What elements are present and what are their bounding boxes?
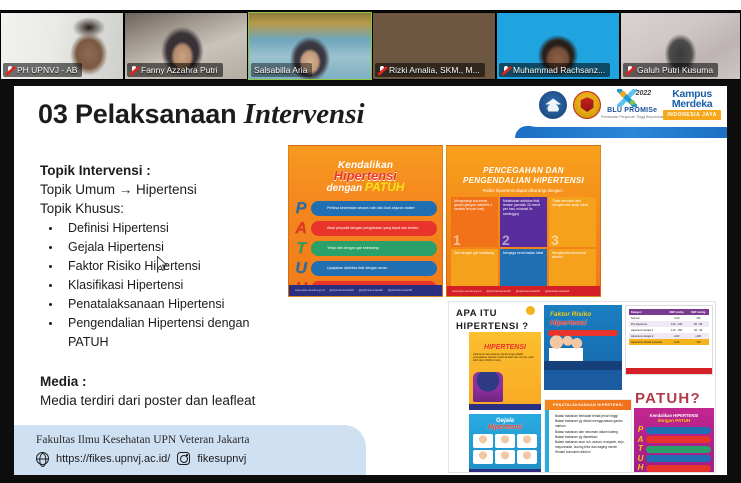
symptom-icon-1 (473, 434, 493, 448)
footer-website-url[interactable]: https://fikes.upnvj.ac.id/ (56, 453, 170, 465)
leaflet-patuh-letter: H (637, 464, 644, 472)
participant-name-text-3: Salsabilla Aria (254, 64, 307, 76)
poster-patuh-handle-0: www.p2ptm.kemkes.go.id (295, 289, 324, 292)
participant-name-label-2: Fanny Azzahra Putri (127, 63, 223, 77)
zoom-meeting-window: PH UPNVJ - AB Fanny Azzahra Putri Salsab… (0, 0, 741, 483)
tip-number: 2 (502, 233, 510, 247)
poster-prevention-handle-1: @p2ptmkemenkesRI (486, 290, 510, 293)
table-cell: Normal (629, 317, 666, 320)
blu-promise-logo-icon: 2022 BLU PROMISe Pendanaan Perguruan Tin… (607, 89, 657, 120)
leaflet-gejala-icon-grid (473, 434, 537, 464)
leaflet-penatalaksanaan-header: PENATALAKSANAAN HIPERTENSI (545, 400, 631, 410)
tip-text: Diet dengan gizi seimbang (454, 251, 494, 255)
leaflet-patuh-letter: P (637, 426, 644, 434)
leaflet-patuh-row-u: U (637, 455, 711, 463)
leaflet-panel-kendalikan-patuh: Kendalikan HIPERTENSI dengan PATUH P A T… (634, 408, 714, 473)
globe-icon (36, 452, 49, 465)
poster-patuh-handle-2: @p2ptmkemenkesRI (359, 289, 383, 292)
participant-name-text-1: PH UPNVJ - AB (17, 64, 77, 76)
symptom-icon-4 (473, 450, 493, 464)
symptom-icon-2 (495, 434, 515, 448)
slide-title-plain: Pelaksanaan (75, 99, 236, 129)
footer-links: https://fikes.upnvj.ac.id/ fikesupnvj (36, 452, 366, 465)
leaflet-penatalaksanaan-list: Batasi makanan berkadar lemak jenuh ting… (555, 414, 628, 456)
leaflet-hipertensi-title: HIPERTENSI (469, 344, 541, 351)
top-white-strip (0, 0, 741, 11)
poster-patuh-line3a: dengan (327, 183, 363, 194)
poster-patuh-line3: dengan PATUH (289, 182, 442, 194)
table-row: Hipertensi sistolik terisolasi ≥140 <90 (629, 339, 709, 345)
leaflet-gejala-title2: Hipertensi (469, 424, 541, 431)
poster-prevention-tip-1: Mengurangi konsumsi garam (jangan melebi… (451, 197, 498, 247)
poster-prevention-tip-grid: Mengurangi konsumsi garam (jangan melebi… (451, 197, 596, 297)
footer-instagram-handle[interactable]: fikesupnvj (197, 453, 246, 465)
slide-title-italic: Intervensi (244, 98, 365, 130)
table-cell: ≥160 (666, 335, 688, 338)
tut-wuri-handayani-logo-icon (539, 91, 567, 119)
poster-patuh-line3b: PATUH (365, 180, 405, 194)
topik-khusus-list: Definisi Hipertensi Gejala Hipertensi Fa… (62, 219, 290, 352)
leaflet-collage: APA ITU HIPERTENSI ? HIPERTENSI Hiperten… (448, 301, 716, 473)
poster-patuh-rows: P Periksa kesehatan secara rutin dan iku… (294, 200, 437, 297)
slide-title-number: 03 (38, 99, 68, 129)
participant-name-label-4: Rizki Amalia, SKM., M... (375, 63, 485, 77)
video-tile-ph-upnvj-ab[interactable]: PH UPNVJ - AB (0, 12, 124, 80)
tip-number: 1 (453, 233, 461, 247)
poster-patuh-text-t: Tetap diet dengan gizi seimbang (311, 241, 437, 256)
poster-prevention-footer-bar: www.p2ptm.kemkes.go.id @p2ptmkemenkesRI … (447, 286, 600, 296)
poster-patuh-handle-1: @p2ptmkemenkesRI (329, 289, 353, 292)
poster-prevention-title-line2: PENGENDALIAN HIPERTENSI (455, 176, 592, 186)
participant-filmstrip: PH UPNVJ - AB Fanny Azzahra Putri Salsab… (0, 12, 741, 80)
leaflet-penatalaksanaan-edge (545, 410, 549, 473)
microphone-muted-icon (130, 65, 138, 76)
leaflet-hipertensi-footer-bar (469, 404, 541, 410)
participant-name-label-5: Muhammad Rachsanz... (499, 63, 610, 77)
poster-prevention-handle-2: @p2ptmkemenkesRI (516, 290, 540, 293)
leaflet-faktor-title2: Hipertensi (550, 318, 622, 327)
topik-umum-line: Topik Umum → Hipertensi (40, 180, 290, 199)
slide-title: 03 Pelaksanaan Intervensi (38, 98, 365, 131)
poster-patuh-heading: Kendalikan Hipertensi dengan PATUH (289, 160, 442, 194)
media-heading: Media : (40, 372, 290, 391)
leaflet-gejala-footer-bar (469, 469, 541, 473)
video-tile-rizki-amalia[interactable]: Rizki Amalia, SKM., M... (372, 12, 496, 80)
slide-body-text: Topik Intervensi : Topik Umum → Hiperten… (40, 161, 290, 410)
poster-patuh-letter-t: T (294, 241, 308, 257)
slide-logo-row: 2022 BLU PROMISe Pendanaan Perguruan Tin… (539, 89, 721, 120)
table-cell: Pre-hipertensi (629, 323, 666, 326)
video-tile-salsabilla-aria[interactable]: Salsabilla Aria (248, 12, 372, 80)
poster-patuh-row-p: P Periksa kesehatan secara rutin dan iku… (294, 200, 437, 217)
poster-patuh-letter-a: A (294, 221, 308, 237)
leaflet-patuh-letter: T (637, 445, 644, 453)
tip-text: Melakukan aktivitas fisik teratur (aerob… (503, 199, 540, 216)
leaflet-faktor-title1: Faktor Risiko (550, 311, 622, 318)
table-cell: Hipertensi derajat 1 (629, 329, 666, 332)
poster-prevention-tip-3: Tidak merokok dan menghindari asap rokok… (549, 197, 596, 247)
leaflet-panel-klasifikasi-table: Kategori SBP mmHg DBP mmHg Normal <120 <… (625, 305, 713, 375)
poster-patuh-row-a: A Atasi penyakit dengan pengobatan yang … (294, 220, 437, 237)
kampus-merdeka-line3: INDONESIA JAYA (663, 110, 721, 120)
poster-patuh-text-a: Atasi penyakit dengan pengobatan yang te… (311, 221, 437, 236)
leaflet-table: Kategori SBP mmHg DBP mmHg Normal <120 <… (629, 309, 709, 345)
tip-number: 3 (551, 233, 559, 247)
participant-name-text-4: Rizki Amalia, SKM., M... (389, 64, 480, 76)
symptom-icon-5 (495, 450, 515, 464)
participant-name-label-1: PH UPNVJ - AB (3, 63, 82, 77)
list-item: Pengendalian Hipertensi dengan PATUH (62, 314, 290, 352)
participant-name-label-3: Salsabilla Aria (251, 63, 312, 77)
sun-icon (526, 306, 535, 315)
kampus-merdeka-line2: Merdeka (672, 99, 713, 109)
slide-footer: Fakultas Ilmu Kesehatan UPN Veteran Jaka… (14, 425, 366, 475)
table-cell: 80 - 89 (687, 323, 709, 326)
poster-pencegahan-pengendalian-hipertensi: PENCEGAHAN DAN PENGENDALIAN HIPERTENSI R… (446, 145, 601, 297)
poster-kendalikan-hipertensi-patuh: Kendalikan Hipertensi dengan PATUH P Per… (288, 145, 443, 297)
leaflet-patuh-row-t: T (637, 445, 711, 453)
table-cell: <80 (687, 317, 709, 320)
poster-patuh-row-t: T Tetap diet dengan gizi seimbang (294, 240, 437, 257)
kampus-merdeka-logo-icon: Kampus Merdeka INDONESIA JAYA (663, 89, 721, 120)
table-cell: ≥100 (687, 335, 709, 338)
table-header-cell: SBP mmHg (666, 311, 688, 314)
leaflet-patuh-row-a: A (637, 436, 711, 444)
slide-header-blue-bar (515, 126, 727, 138)
leaflet-header: APA ITU HIPERTENSI ? (456, 307, 529, 333)
list-item: Batasi makanan acar, tuli, asinan, marga… (555, 440, 628, 450)
table-cell: <120 (666, 317, 688, 320)
table-cell: <90 (687, 341, 709, 344)
instagram-icon (177, 452, 190, 465)
topik-khusus-heading: Topik Khusus: (40, 199, 290, 218)
leaflet-patuh-row-p: P (637, 426, 711, 434)
illustration-person-reading (473, 372, 503, 402)
blu-promise-subtitle: Pendanaan Perguruan Tinggi Berprestasi (601, 115, 663, 120)
leaflet-panel-hipertensi: HIPERTENSI Hipertensi atau tekanan darah… (469, 332, 541, 410)
participant-name-text-6: Galuh Putri Kusuma (637, 64, 713, 76)
list-item: Klasifikasi Hipertensi (62, 276, 290, 295)
leaflet-faktor-chip2 (544, 361, 622, 370)
symptom-icon-3 (517, 434, 537, 448)
poster-prevention-title: PENCEGAHAN DAN PENGENDALIAN HIPERTENSI (455, 166, 592, 186)
upn-veteran-jakarta-logo-icon (573, 91, 601, 119)
participant-name-text-5: Muhammad Rachsanz... (513, 64, 605, 76)
media-block: Media : Media terdiri dari poster dan le… (40, 372, 290, 410)
microphone-muted-icon (378, 65, 386, 76)
table-cell: Hipertensi derajat 2 (629, 335, 666, 338)
poster-prevention-tip-2: Melakukan aktivitas fisik teratur (aerob… (500, 197, 547, 247)
poster-patuh-footer-bar: www.p2ptm.kemkes.go.id @p2ptmkemenkesRI … (289, 285, 442, 296)
poster-prevention-handle-3: @p2ptmkemenkesRI (545, 290, 569, 293)
leaflet-patuh-rows: P A T U H (637, 426, 711, 472)
media-description: Media terdiri dari poster dan leafleat (40, 391, 290, 410)
participant-name-text-2: Fanny Azzahra Putri (141, 64, 218, 76)
table-cell: 120 - 139 (666, 323, 688, 326)
leaflet-patuh-row-h: H (637, 464, 711, 472)
table-cell: 90 - 99 (687, 329, 709, 332)
leaflet-header-line1: APA ITU (456, 307, 529, 320)
list-item: Penatalaksanaan Hipertensi (62, 295, 290, 314)
shared-presentation-slide[interactable]: 2022 BLU PROMISe Pendanaan Perguruan Tin… (14, 86, 727, 475)
tip-text: Tidak merokok dan menghindari asap rokok (552, 199, 588, 207)
list-item: Faktor Risiko Hipertensi (62, 257, 290, 276)
blu-year-label: 2022 (636, 90, 652, 97)
footer-institution-name: Fakultas Ilmu Kesehatan UPN Veteran Jaka… (36, 432, 366, 448)
video-tile-fanny-azzahra-putri[interactable]: Fanny Azzahra Putri (124, 12, 248, 80)
poster-patuh-text-p: Periksa kesehatan secara rutin dan ikuti… (311, 201, 437, 216)
poster-patuh-letter-p: P (294, 201, 308, 217)
table-header-cell: DBP mmHg (687, 311, 709, 314)
symptom-icon-6 (517, 450, 537, 464)
tip-text: Mengurangi konsumsi garam (jangan melebi… (454, 199, 492, 211)
leaflet-faktor-lower-panel (544, 370, 622, 390)
list-item: Hindari konsumsi alkohol (555, 450, 628, 455)
microphone-muted-icon (502, 65, 510, 76)
leaflet-patuh-letter: U (637, 455, 644, 463)
microphone-muted-icon (6, 65, 14, 76)
list-item: Definisi Hipertensi (62, 219, 290, 238)
leaflet-patuh-question: PATUH? (635, 390, 701, 407)
table-cell: ≥140 (666, 341, 688, 344)
poster-prevention-subtitle: Risiko hipertensi dapat dikurangi dengan… (447, 188, 600, 193)
topik-intervensi-heading: Topik Intervensi : (40, 161, 290, 180)
poster-prevention-title-line1: PENCEGAHAN DAN (455, 166, 592, 176)
list-item: Gejala Hipertensi (62, 238, 290, 257)
video-tile-muhammad-rachsanz[interactable]: Muhammad Rachsanz... (496, 12, 620, 80)
table-header-cell: Kategori (629, 311, 666, 314)
leaflet-patuh-title2: dengan PATUH (634, 418, 714, 423)
leaflet-table-footer-bar (626, 368, 712, 374)
poster-patuh-row-u: U Upayakan aktivitas fisik dengan aman (294, 260, 437, 277)
microphone-muted-icon (626, 65, 634, 76)
video-tile-galuh-putri-kusuma[interactable]: Galuh Putri Kusuma (620, 12, 741, 80)
poster-prevention-handle-0: www.p2ptm.kemkes.go.id (452, 290, 481, 293)
blu-promise-label: BLU PROMISe (607, 107, 657, 115)
tip-text: Menjaga berat badan ideal (503, 251, 543, 255)
leaflet-panel-penatalaksanaan: PENATALAKSANAAN HIPERTENSI Batasi makana… (544, 399, 632, 473)
poster-patuh-letter-u: U (294, 261, 308, 277)
leaflet-patuh-letter: A (637, 436, 644, 444)
leaflet-panel-faktor-risiko: Faktor Risiko Hipertensi (544, 305, 622, 390)
tip-text: Menghindari konsumsi alkohol (552, 251, 586, 259)
poster-patuh-handle-3: @p2ptmkemenkesRI (388, 289, 412, 292)
poster-patuh-text-u: Upayakan aktivitas fisik dengan aman (311, 261, 437, 276)
leaflet-panel-gejala: Gejala Hipertensi (469, 414, 541, 473)
participant-name-label-6: Galuh Putri Kusuma (623, 63, 718, 77)
table-cell: 140 - 159 (666, 329, 688, 332)
table-cell: Hipertensi sistolik terisolasi (629, 341, 666, 344)
list-item: Batasi makanan yg diolah menggunakan gar… (555, 419, 628, 429)
leaflet-hipertensi-text: Hipertensi atau tekanan darah tinggi ada… (473, 353, 537, 363)
